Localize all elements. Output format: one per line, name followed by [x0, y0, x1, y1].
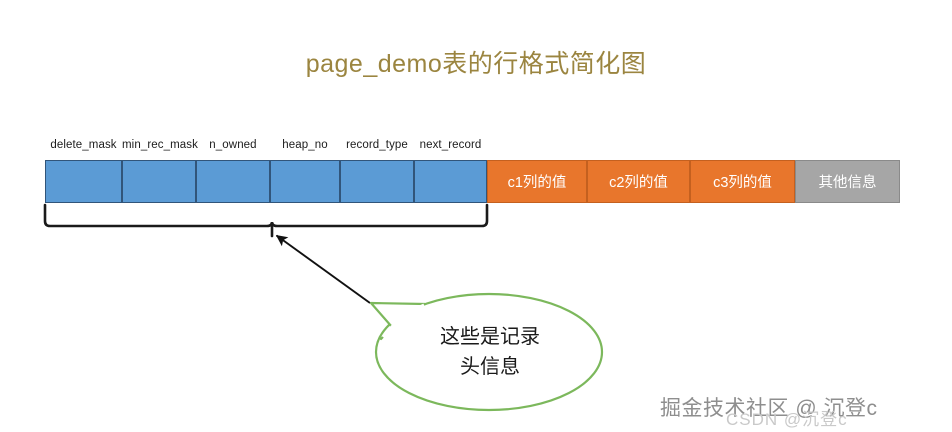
record-header-bracket [45, 205, 487, 226]
cell-other-info: 其他信息 [795, 160, 900, 203]
watermark-secondary: CSDN @沉登c [726, 405, 848, 430]
cell-n-owned [196, 160, 270, 203]
cell-record-type [340, 160, 414, 203]
field-label-next-record: next_record [414, 139, 487, 151]
diagram-canvas: page_demo表的行格式简化图 delete_mask min_rec_ma… [0, 0, 952, 432]
field-label-n-owned: n_owned [196, 139, 270, 151]
field-label-record-type: record_type [340, 139, 414, 151]
callout-text: 这些是记录 头信息 [400, 322, 580, 382]
page-title: page_demo表的行格式简化图 [0, 44, 952, 80]
cell-min-rec-mask [122, 160, 196, 203]
field-label-delete-mask: delete_mask [45, 139, 122, 151]
cell-delete-mask [45, 160, 122, 203]
cell-heap-no [270, 160, 340, 203]
field-label-heap-no: heap_no [270, 139, 340, 151]
callout-arrow [277, 236, 371, 304]
cell-c1-value: c1列的值 [487, 160, 587, 203]
field-label-min-rec-mask: min_rec_mask [122, 139, 196, 151]
cell-next-record [414, 160, 487, 203]
cell-c3-value: c3列的值 [690, 160, 795, 203]
cell-c2-value: c2列的值 [587, 160, 690, 203]
